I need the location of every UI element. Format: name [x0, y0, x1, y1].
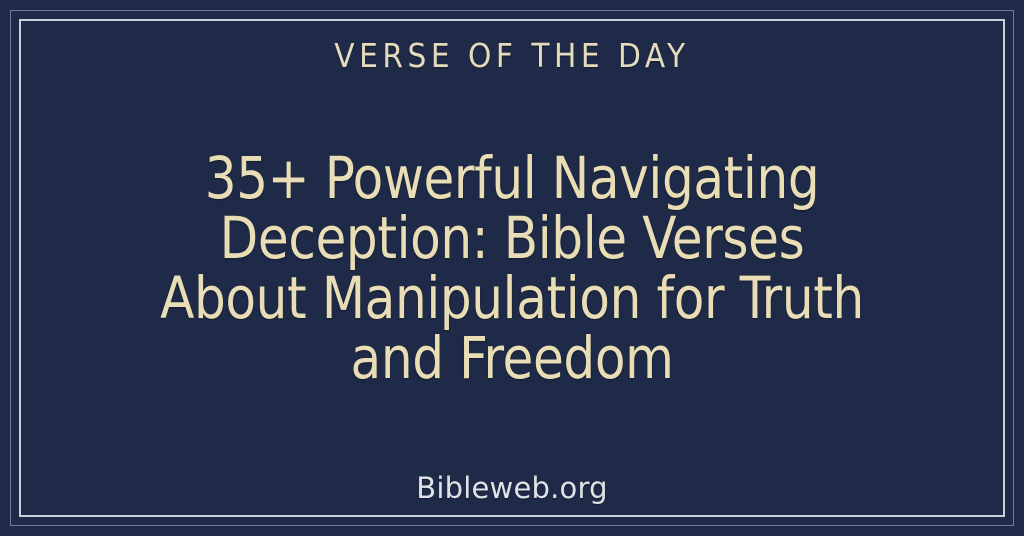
page-title-line-1: 35+ Powerful Navigating	[59, 148, 965, 208]
eyebrow-label: VERSE OF THE DAY	[0, 38, 1024, 74]
site-name: Bibleweb.org	[0, 473, 1024, 505]
page-title-line-4: and Freedom	[59, 328, 965, 388]
page-title-line-3: About Manipulation for Truth	[59, 268, 965, 328]
page-title-line-2: Deception: Bible Verses	[59, 208, 965, 268]
title-block: 35+ Powerful Navigating Deception: Bible…	[40, 148, 984, 388]
verse-of-the-day-card: VERSE OF THE DAY 35+ Powerful Navigating…	[0, 0, 1024, 536]
